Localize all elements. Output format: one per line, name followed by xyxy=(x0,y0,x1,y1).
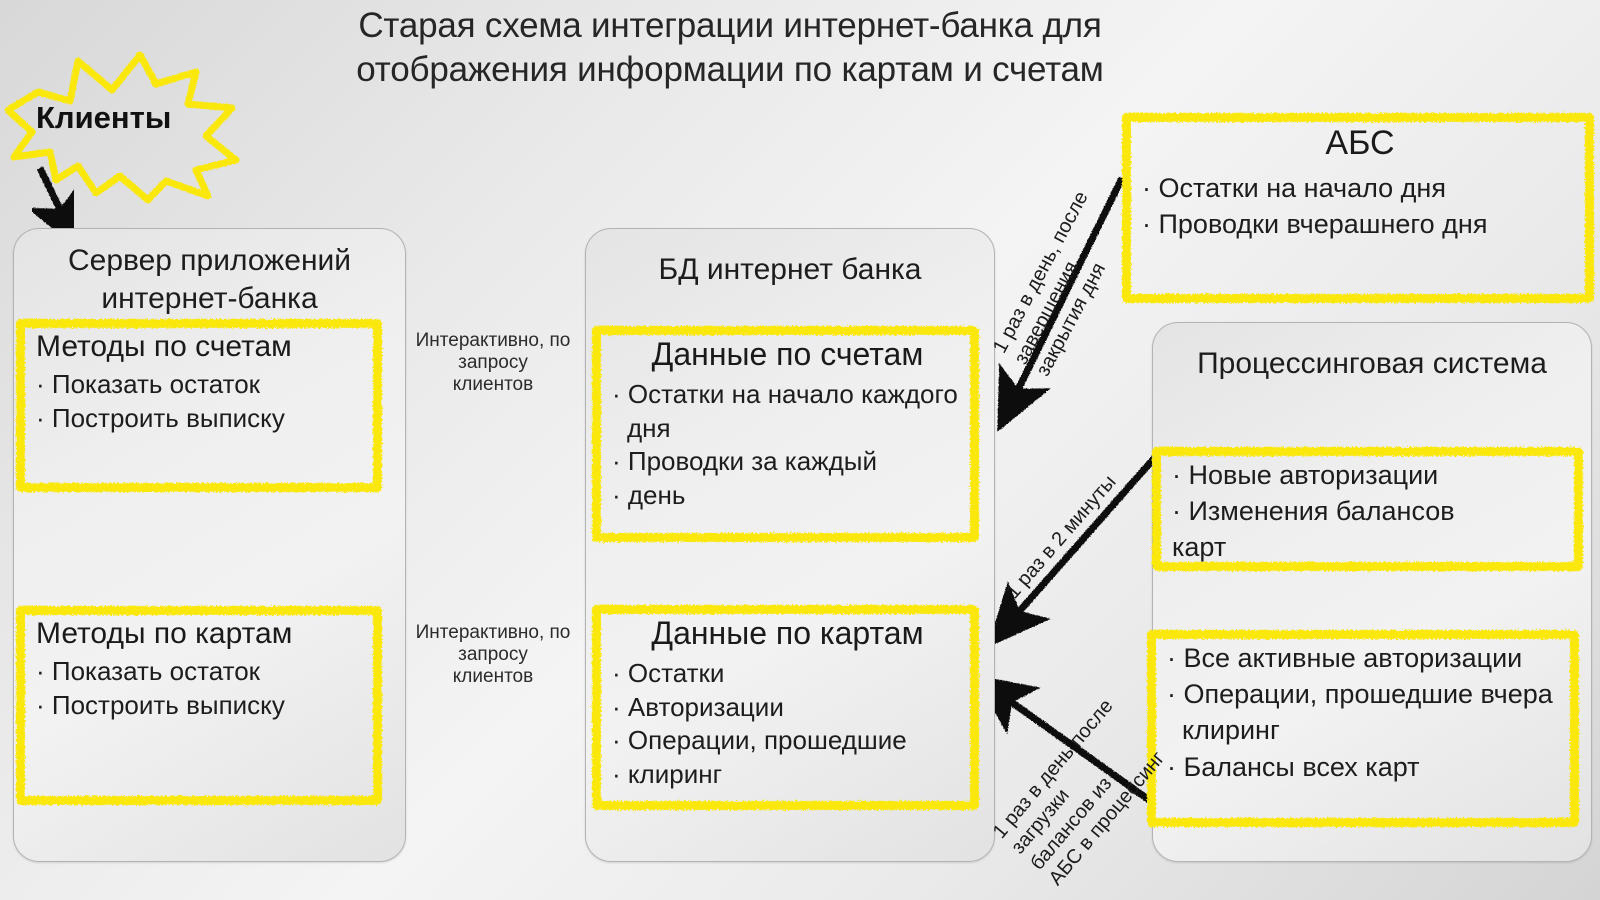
arrow-label-processing-to-db: 1 раз в 2 минуты xyxy=(1001,470,1122,604)
list-item: Остатки на начало дня xyxy=(1142,171,1578,207)
list-item: Авторизации xyxy=(612,691,963,725)
data-accounts-list: Остатки на начало каждого дня Проводки з… xyxy=(612,378,963,513)
list-item: Балансы всех карт xyxy=(1167,749,1563,785)
abs-block: АБС Остатки на начало дня Проводки вчера… xyxy=(1128,119,1588,297)
clients-label: Клиенты xyxy=(36,100,171,136)
methods-cards-heading: Методы по картам xyxy=(36,616,366,651)
list-item: Показать остаток xyxy=(36,655,366,689)
list-item: Операции, прошедшие xyxy=(612,724,963,758)
processing-bottom-list: Все активные авторизации Операции, проше… xyxy=(1167,640,1563,785)
list-item: Новые авторизации xyxy=(1172,457,1567,493)
flow-label-line: запросу xyxy=(395,644,591,666)
flow-label-accounts: Интерактивно, по запросу клиентов xyxy=(395,330,591,396)
data-cards-heading: Данные по картам xyxy=(612,615,963,653)
page-title: Старая схема интеграции интернет-банка д… xyxy=(255,4,1205,92)
data-accounts-heading: Данные по счетам xyxy=(612,336,963,374)
arrow-label-line: 1 раз в 2 минуты xyxy=(1001,470,1122,604)
list-item: Показать остаток xyxy=(36,368,366,402)
data-cards-list: Остатки Авторизации Операции, прошедшие … xyxy=(612,657,963,792)
list-item: Остатки на начало каждого дня xyxy=(612,378,963,446)
list-item: Проводки за каждый xyxy=(612,445,963,479)
list-item: клиринг xyxy=(612,758,963,792)
abs-list: Остатки на начало дня Проводки вчерашнег… xyxy=(1142,171,1578,242)
processing-top-block: Новые авторизации Изменения балансов кар… xyxy=(1158,453,1577,565)
list-item: Остатки xyxy=(612,657,963,691)
flow-label-line: Интерактивно, по xyxy=(395,622,591,644)
flow-label-cards: Интерактивно, по запросу клиентов xyxy=(395,622,591,688)
methods-cards-block: Методы по картам Показать остаток Постро… xyxy=(22,612,376,799)
processing-title: Процессинговая система xyxy=(1153,345,1591,383)
list-item: Построить выписку xyxy=(36,402,366,436)
flow-label-line: запросу xyxy=(395,352,591,374)
app-server-title: Сервер приложений интернет-банка xyxy=(14,242,405,317)
list-item: Операции, прошедшие вчера клиринг xyxy=(1167,676,1563,748)
arrow-processing-to-db xyxy=(1010,438,1172,622)
list-item: Проводки вчерашнего дня xyxy=(1142,207,1578,243)
methods-cards-list: Показать остаток Построить выписку xyxy=(36,655,366,723)
processing-bottom-block: Все активные авторизации Операции, проше… xyxy=(1153,636,1573,821)
methods-accounts-block: Методы по счетам Показать остаток Постро… xyxy=(22,325,376,486)
data-accounts-block: Данные по счетам Остатки на начало каждо… xyxy=(598,332,973,536)
list-item: Изменения балансов xyxy=(1172,493,1567,529)
flow-label-line: клиентов xyxy=(395,374,591,396)
list-item-overflow: карт xyxy=(1172,529,1567,565)
methods-accounts-list: Показать остаток Построить выписку xyxy=(36,368,366,436)
db-title: БД интернет банка xyxy=(586,251,994,289)
abs-heading: АБС xyxy=(1142,123,1578,163)
flow-label-line: Интерактивно, по xyxy=(395,330,591,352)
diagram-canvas: Старая схема интеграции интернет-банка д… xyxy=(0,0,1600,900)
list-item: день xyxy=(612,479,963,513)
list-item: Построить выписку xyxy=(36,689,366,723)
methods-accounts-heading: Методы по счетам xyxy=(36,329,366,364)
processing-top-list: Новые авторизации Изменения балансов кар… xyxy=(1172,457,1567,566)
arrow-label-abs-to-db: 1 раз в день, после завершения закрытия … xyxy=(988,187,1137,380)
flow-label-line: клиентов xyxy=(395,666,591,688)
data-cards-block: Данные по картам Остатки Авторизации Опе… xyxy=(598,611,973,804)
list-item: Все активные авторизации xyxy=(1167,640,1563,676)
